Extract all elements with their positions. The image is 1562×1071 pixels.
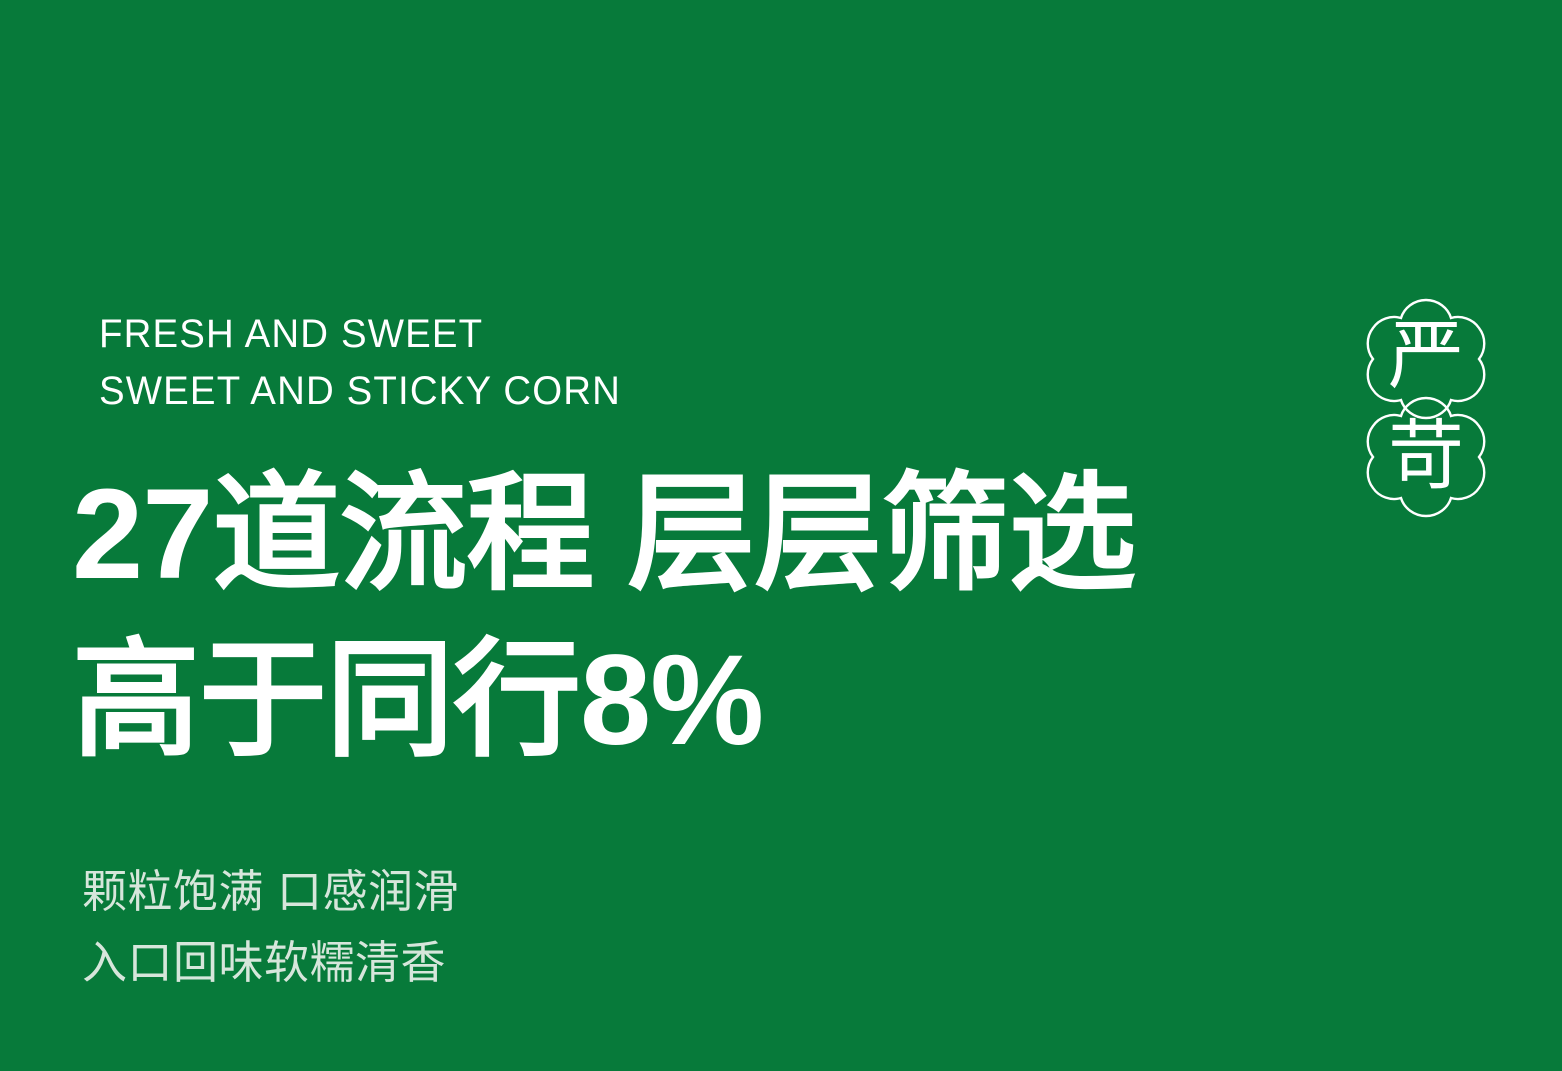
headline-line-1-part-2: 层层筛选 bbox=[627, 463, 1135, 606]
headline-line-2: 高于同行8% bbox=[72, 618, 1135, 784]
eyebrow-text-block: FRESH AND SWEET SWEET AND STICKY CORN bbox=[99, 306, 643, 420]
descriptor-text-block: 颗粒饱满 口感润滑 入口回味软糯清香 bbox=[82, 856, 459, 998]
brand-logo-seal: 严 苛 bbox=[1358, 292, 1494, 524]
eyebrow-line-2: SWEET AND STICKY CORN bbox=[99, 363, 621, 420]
descriptor-line-1: 颗粒饱满 口感润滑 bbox=[82, 856, 459, 927]
headline-line-2-value: 8 bbox=[580, 629, 650, 772]
headline-line-1: 27道流程层层筛选 bbox=[72, 452, 1135, 618]
eyebrow-line-1: FRESH AND SWEET bbox=[99, 306, 621, 363]
headline-block: 27道流程层层筛选 高于同行8% bbox=[72, 452, 1135, 785]
logo-character-bottom: 苛 bbox=[1388, 411, 1464, 500]
headline-line-2-unit: % bbox=[650, 629, 762, 772]
headline-line-1-part-1: 27道流程 bbox=[72, 463, 593, 606]
promo-banner: FRESH AND SWEET SWEET AND STICKY CORN 27… bbox=[0, 0, 1562, 1071]
descriptor-line-2: 入口回味软糯清香 bbox=[82, 927, 459, 998]
logo-character-top: 严 bbox=[1388, 311, 1464, 400]
quatrefoil-seal-icon: 严 苛 bbox=[1358, 292, 1494, 524]
headline-line-2-prefix: 高于同行 bbox=[72, 629, 580, 772]
